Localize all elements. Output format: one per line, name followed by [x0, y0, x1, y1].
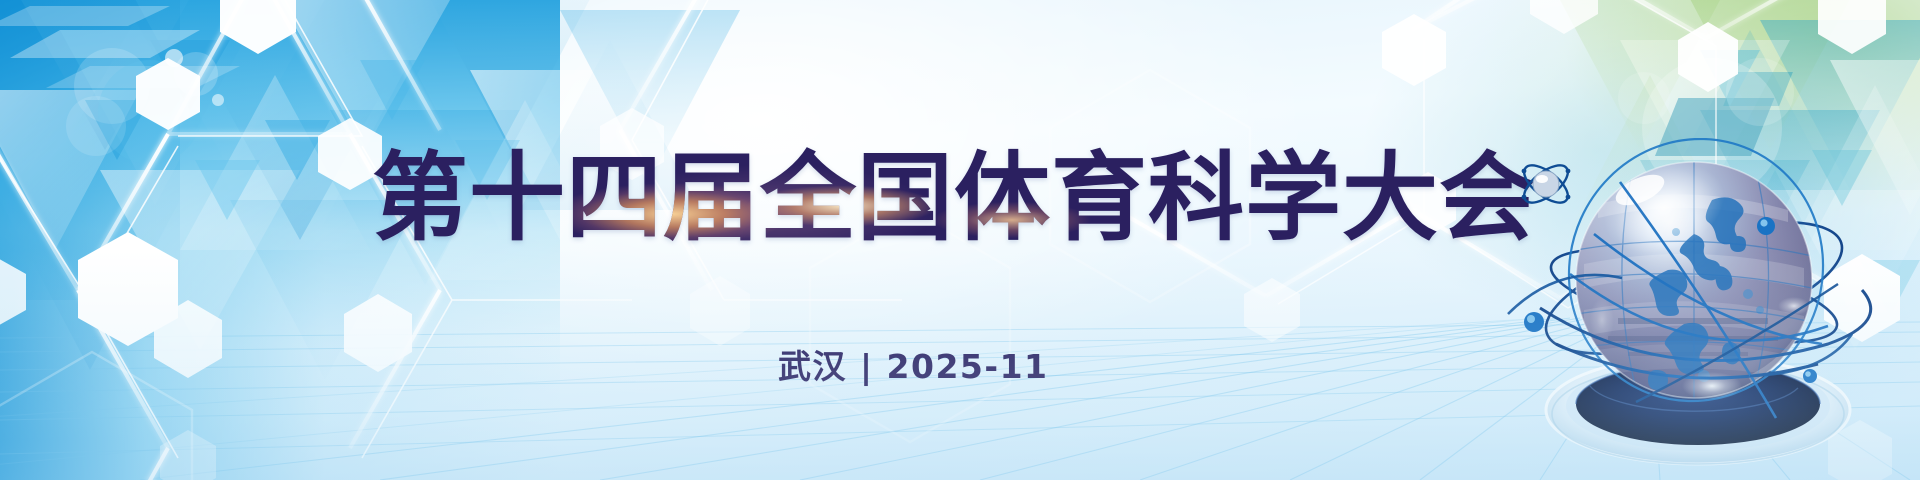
atom-satellite-icon: [1518, 159, 1574, 210]
globe-graphic: [1498, 138, 1918, 480]
page-title: 第十四届全国体育科学大会: [372, 146, 1512, 250]
conference-banner: 第十四届全国体育科学大会 第十四届全国体育科学大会 武汉 | 2025-11: [0, 0, 1920, 480]
subtitle-location-date: 武汉 | 2025-11: [778, 340, 1049, 388]
title-block: 第十四届全国体育科学大会 第十四届全国体育科学大会: [372, 146, 1512, 254]
